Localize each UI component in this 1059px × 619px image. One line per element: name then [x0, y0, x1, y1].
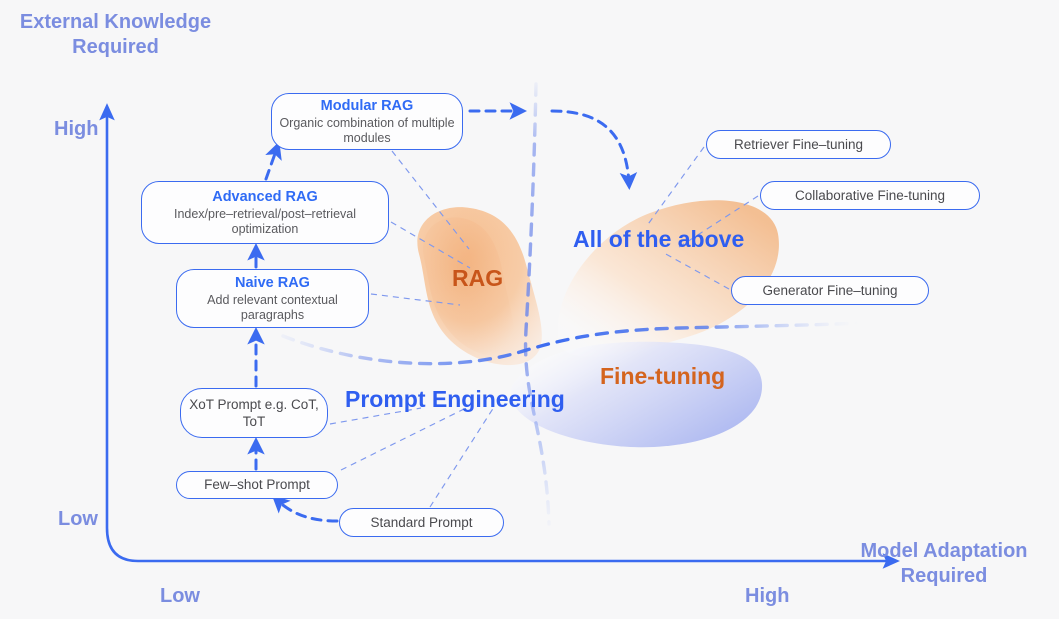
node-xot-prompt[interactable]: XoT Prompt e.g. CoT, ToT: [180, 388, 328, 438]
diagram-vector-layer: [0, 0, 1059, 619]
diagram-canvas: External Knowledge Required Model Adapta…: [0, 0, 1059, 619]
y-axis-line: [107, 110, 138, 561]
connector-standard-to-prompteng: [430, 407, 494, 507]
connector-fewshot-to-prompteng: [341, 407, 468, 470]
node-collaborative-fine-tuning[interactable]: Collaborative Fine-tuning: [760, 181, 980, 210]
region-label-prompt-engineering: Prompt Engineering: [345, 386, 565, 413]
arrow-to-all-of-the-above: [552, 111, 629, 183]
y-axis-title: External Knowledge Required: [8, 10, 223, 60]
node-subtitle: Organic combination of multiple modules: [272, 116, 462, 146]
y-axis-tick-high: High: [54, 118, 98, 141]
arrow-standard-to-fewshot: [277, 500, 337, 521]
node-title: Standard Prompt: [370, 514, 472, 532]
region-label-all-of-the-above: All of the above: [573, 226, 744, 253]
arrow-advanced-to-modular: [266, 148, 277, 179]
y-axis-tick-low: Low: [58, 508, 98, 531]
node-subtitle: Add relevant contextual paragraphs: [177, 293, 368, 323]
node-standard-prompt[interactable]: Standard Prompt: [339, 508, 504, 537]
x-axis-tick-high: High: [745, 585, 789, 608]
node-few-shot-prompt[interactable]: Few–shot Prompt: [176, 471, 338, 499]
x-axis-tick-low: Low: [160, 585, 200, 608]
node-title: Few–shot Prompt: [204, 476, 310, 494]
node-title: Modular RAG: [321, 97, 414, 115]
node-title: Generator Fine–tuning: [762, 282, 897, 300]
node-title: Advanced RAG: [212, 188, 318, 206]
region-label-fine-tuning: Fine-tuning: [600, 363, 725, 390]
node-title: Naive RAG: [235, 274, 310, 292]
node-subtitle: Index/pre–retrieval/post–retrieval optim…: [142, 207, 388, 237]
x-axis-title: Model Adaptation Required: [844, 539, 1044, 589]
node-retriever-fine-tuning[interactable]: Retriever Fine–tuning: [706, 130, 891, 159]
node-modular-rag[interactable]: Modular RAG Organic combination of multi…: [271, 93, 463, 150]
node-title: Collaborative Fine-tuning: [795, 187, 945, 205]
divider-vertical: [526, 84, 549, 524]
node-title: Retriever Fine–tuning: [734, 136, 863, 154]
node-advanced-rag[interactable]: Advanced RAG Index/pre–retrieval/post–re…: [141, 181, 389, 244]
node-naive-rag[interactable]: Naive RAG Add relevant contextual paragr…: [176, 269, 369, 328]
node-generator-fine-tuning[interactable]: Generator Fine–tuning: [731, 276, 929, 305]
region-label-rag: RAG: [452, 265, 503, 292]
node-title: XoT Prompt e.g. CoT, ToT: [181, 396, 327, 430]
